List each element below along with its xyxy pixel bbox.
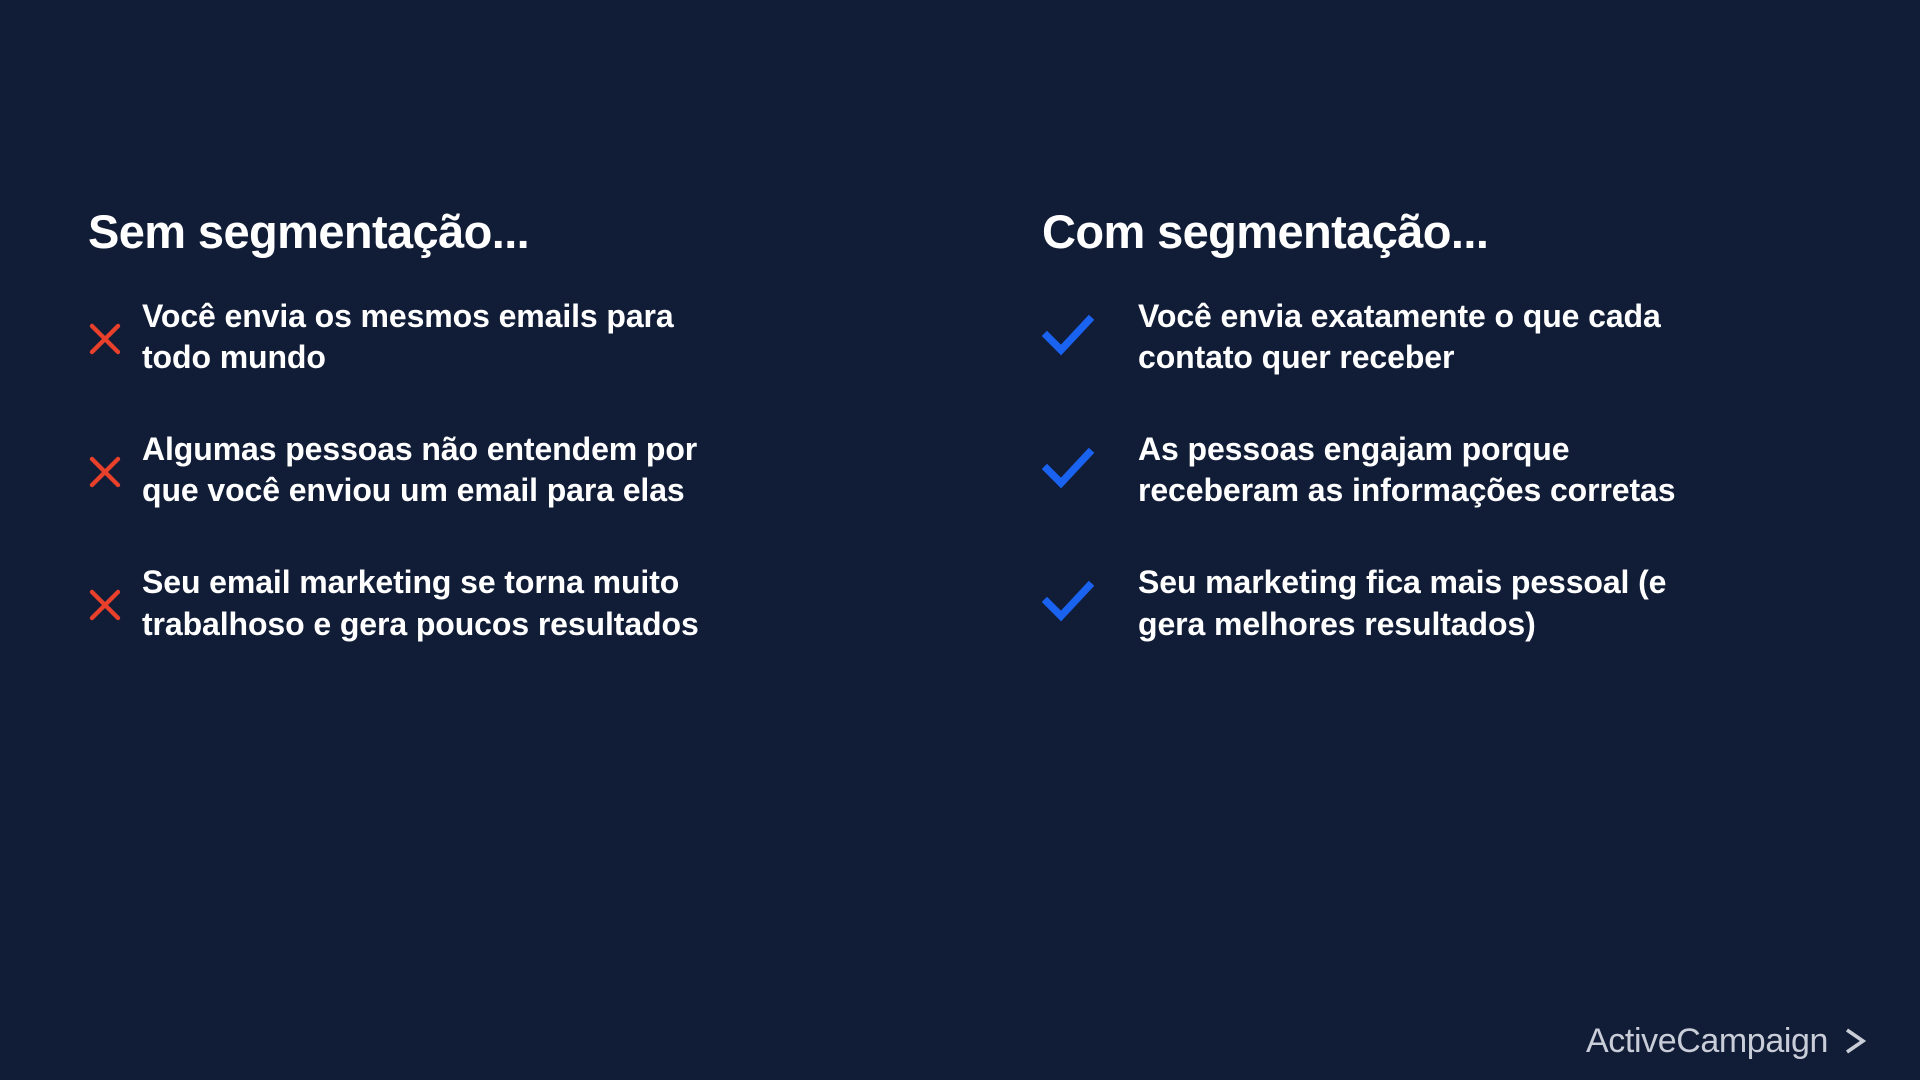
list-item: Algumas pessoas não entendem por que voc… <box>88 429 900 512</box>
column-com-segmentacao: Com segmentação... Você envia exatamente… <box>960 206 1920 645</box>
chevron-right-icon <box>1840 1026 1874 1056</box>
column-sem-segmentacao: Sem segmentação... Você envia os mesmos … <box>0 206 960 645</box>
list-item: Você envia exatamente o que cada contato… <box>1042 296 1880 379</box>
cross-icon <box>88 296 142 356</box>
comparison-columns: Sem segmentação... Você envia os mesmos … <box>0 206 1920 645</box>
list-item-label: As pessoas engajam porque receberam as i… <box>1138 429 1675 512</box>
column-heading-left: Sem segmentação... <box>88 206 900 258</box>
list-item: Você envia os mesmos emails para todo mu… <box>88 296 900 379</box>
list-item-label: Você envia exatamente o que cada contato… <box>1138 296 1661 379</box>
bullet-list-right: Você envia exatamente o que cada contato… <box>1042 296 1880 646</box>
list-item-label: Você envia os mesmos emails para todo mu… <box>142 296 674 379</box>
list-item-label: Seu marketing fica mais pessoal (e gera … <box>1138 562 1666 645</box>
list-item: Seu marketing fica mais pessoal (e gera … <box>1042 562 1880 645</box>
list-item: Seu email marketing se torna muito traba… <box>88 562 900 645</box>
cross-icon <box>88 562 142 622</box>
brand-name-label: ActiveCampaign <box>1586 1024 1828 1058</box>
list-item-label: Algumas pessoas não entendem por que voc… <box>142 429 697 512</box>
activecampaign-logo: ActiveCampaign <box>1586 1024 1874 1058</box>
list-item-label: Seu email marketing se torna muito traba… <box>142 562 699 645</box>
slide-canvas: Sem segmentação... Você envia os mesmos … <box>0 0 1920 1080</box>
check-icon <box>1042 562 1138 624</box>
cross-icon <box>88 429 142 489</box>
column-heading-right: Com segmentação... <box>1042 206 1880 258</box>
check-icon <box>1042 296 1138 358</box>
check-icon <box>1042 429 1138 491</box>
list-item: As pessoas engajam porque receberam as i… <box>1042 429 1880 512</box>
bullet-list-left: Você envia os mesmos emails para todo mu… <box>88 296 900 646</box>
